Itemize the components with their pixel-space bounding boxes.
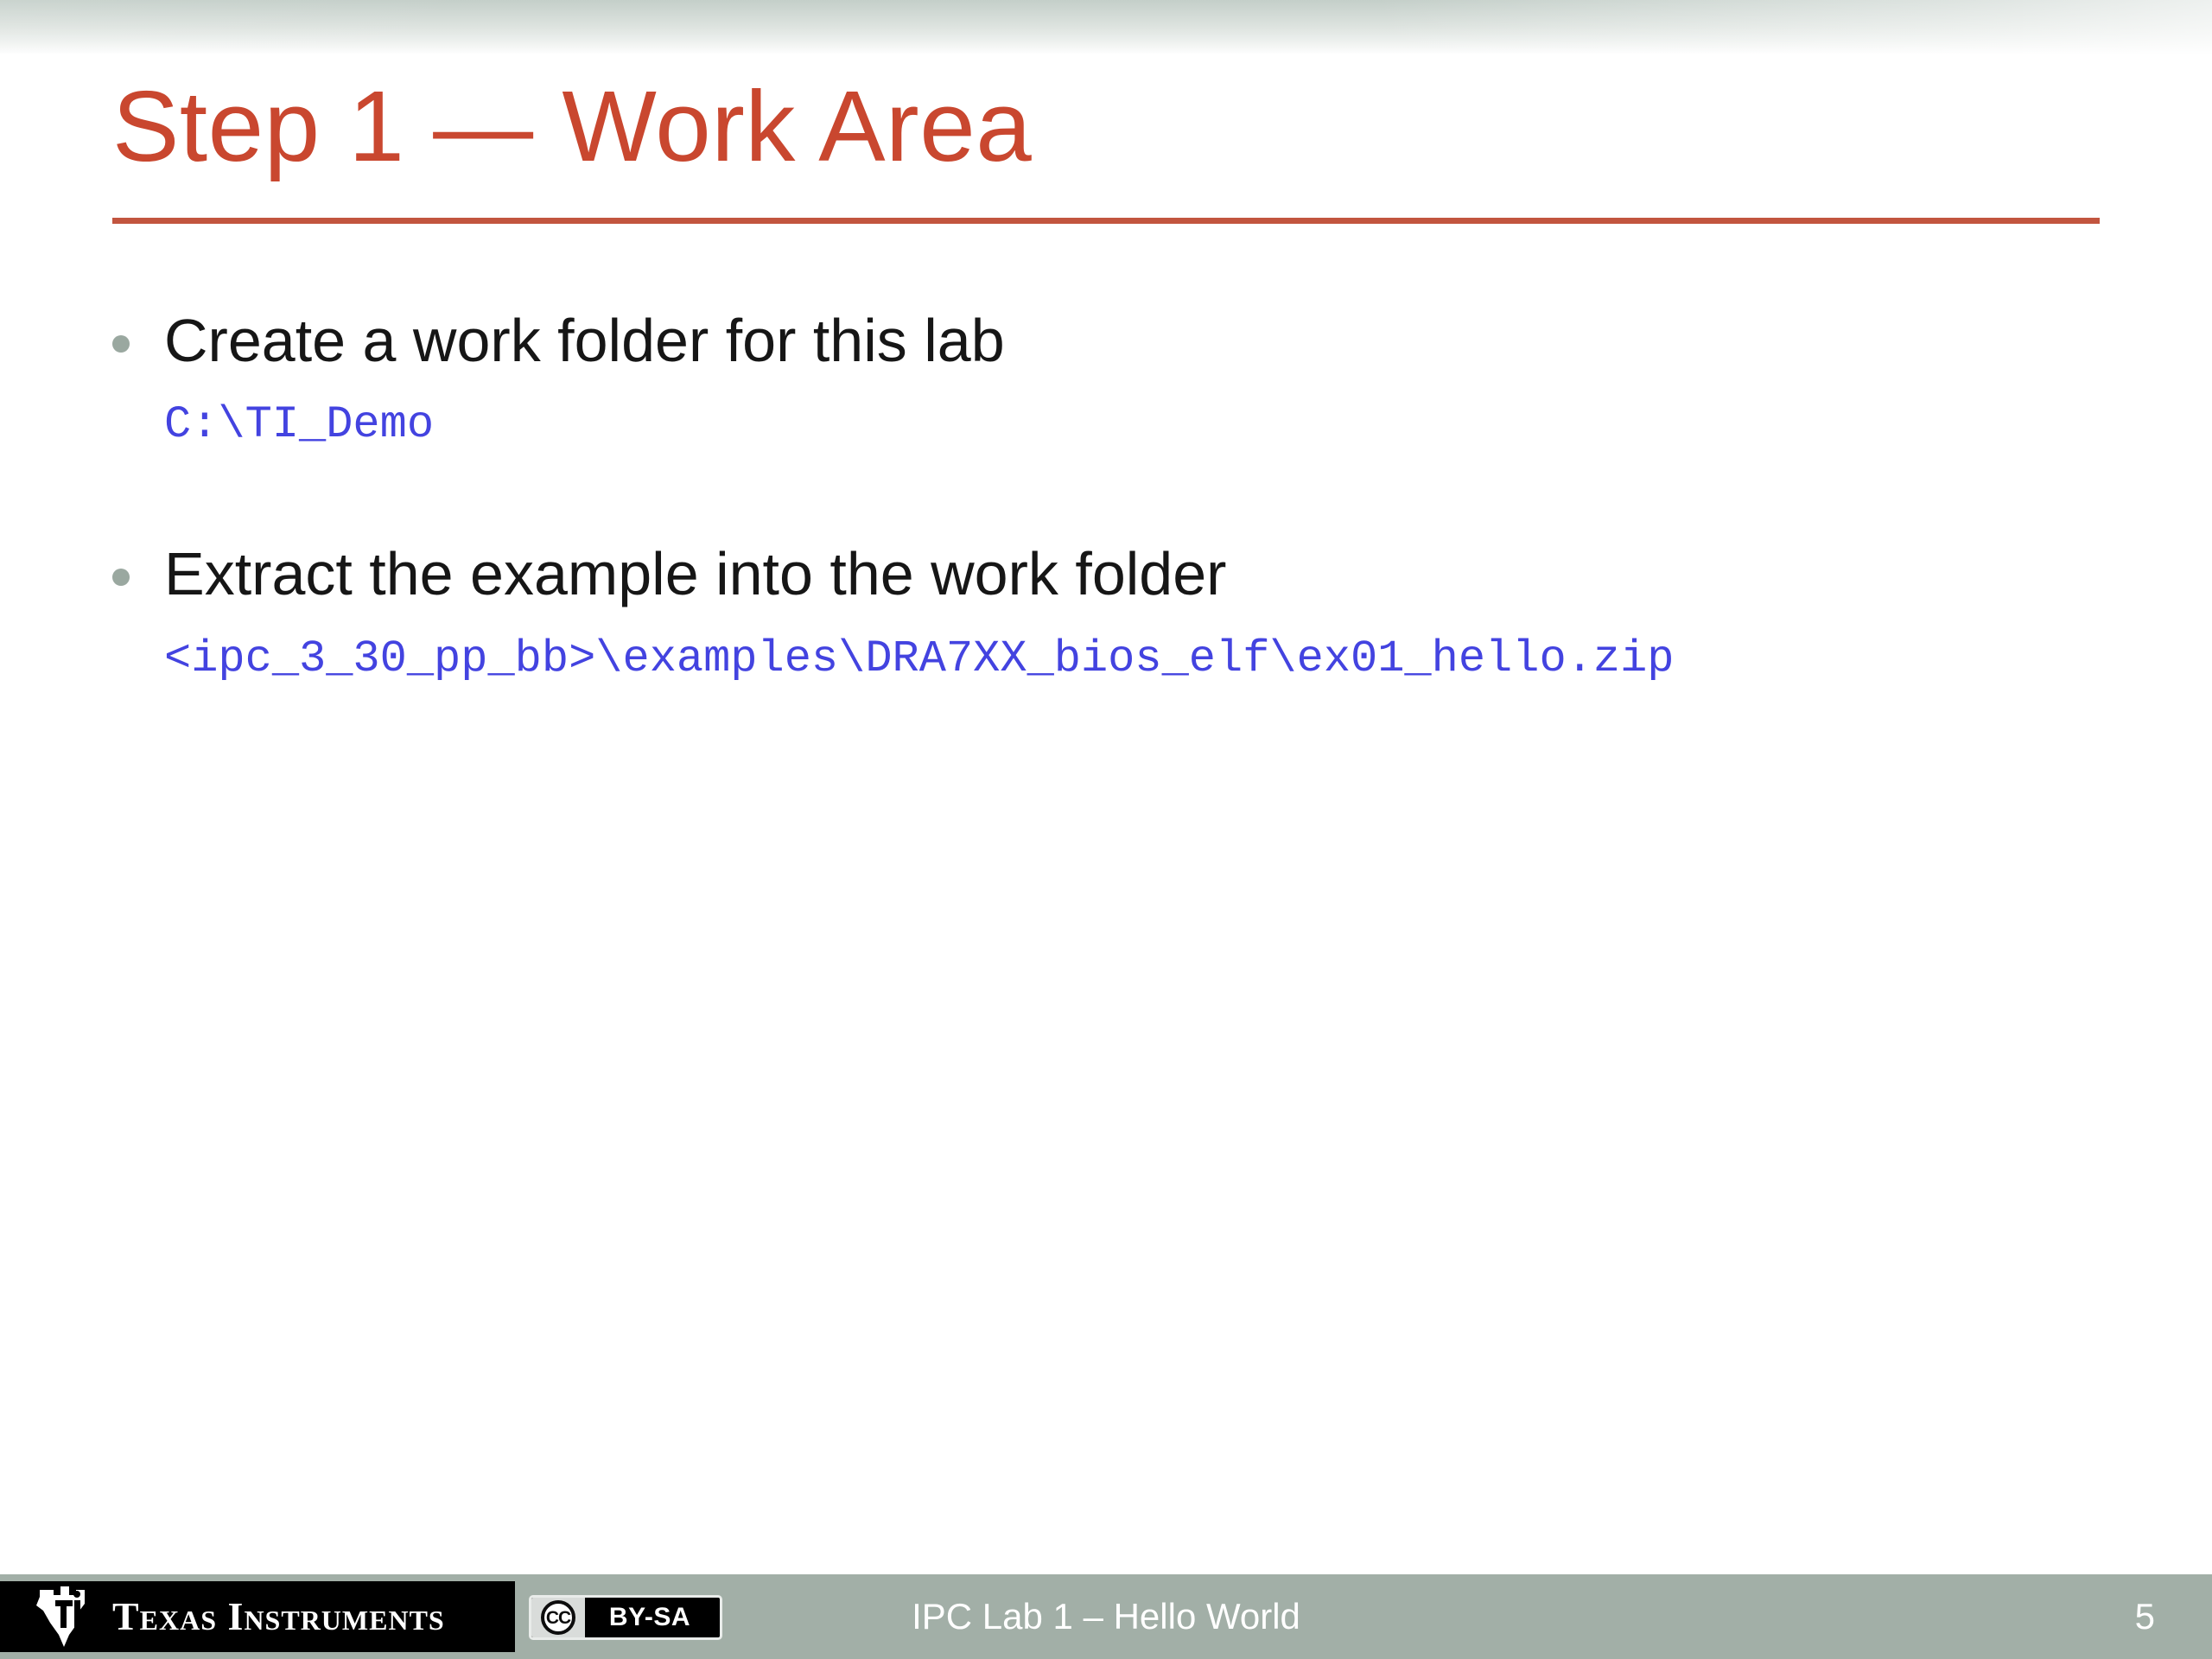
ti-logo: Texas Instruments [0,1581,515,1652]
body-content: Create a work folder for this lab C:\TI_… [112,304,2134,687]
title-block: Step 1 — Work Area [112,67,2100,186]
list-item: Extract the example into the work folder [112,537,2134,611]
bullet-text: Create a work folder for this lab [164,304,1005,378]
creative-commons-icon: CC [541,1600,575,1635]
code-path: <ipc_3_30_pp_bb>\examples\DRA7XX_bios_el… [164,631,2134,687]
slide-canvas: Step 1 — Work Area Create a work folder … [0,0,2212,1659]
code-path: C:\TI_Demo [164,397,2134,453]
bullet-text: Extract the example into the work folder [164,537,1226,611]
list-item: Create a work folder for this lab [112,304,2134,378]
footer-subtitle-text: IPC Lab 1 – Hello World [912,1596,1300,1637]
creative-commons-badge[interactable]: CC BY-SA [529,1595,722,1640]
texas-instruments-logo-icon [31,1585,93,1649]
page-title: Step 1 — Work Area [112,67,2100,186]
footer-bar: Texas Instruments CC BY-SA IPC Lab 1 – H… [0,1574,2212,1659]
page-number: 5 [2135,1574,2155,1659]
bullet-dot-icon [112,335,130,353]
ti-wordmark: Texas Instruments [112,1597,445,1637]
bullet-dot-icon [112,569,130,586]
top-banner-sheen [0,0,2212,54]
top-banner [0,0,2212,54]
cc-circle-wrap: CC [531,1598,585,1637]
title-underline-rule [112,218,2100,224]
page-number-text: 5 [2135,1596,2155,1637]
license-terms-label: BY-SA [585,1605,720,1630]
